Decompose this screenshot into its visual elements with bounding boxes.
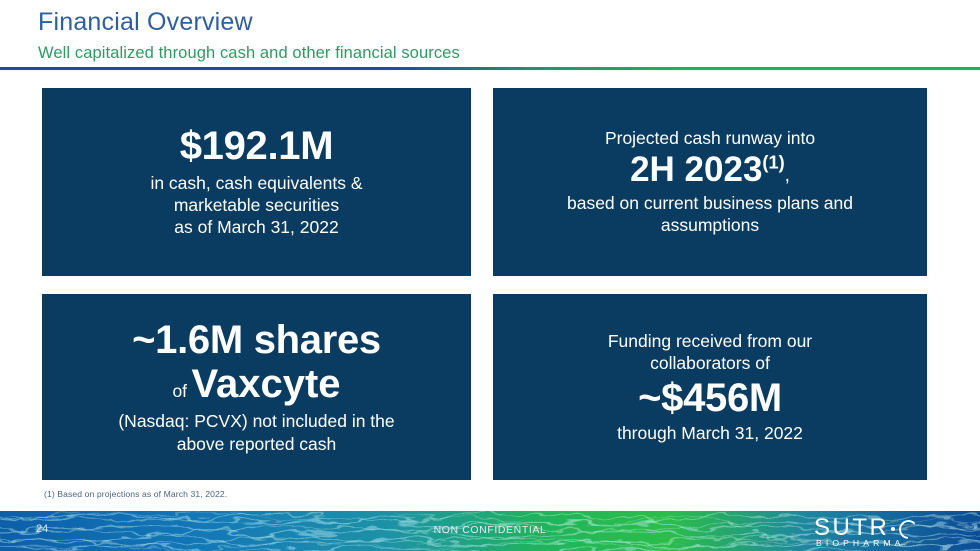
collaborator-funding-lead: Funding received from our collaborators … <box>608 330 812 375</box>
logo-dot-icon <box>891 527 895 531</box>
sutro-biopharma-logo: SUTR BIOPHARMA <box>814 516 964 548</box>
vaxcyte-line-2: above reported cash <box>118 433 394 455</box>
vaxcyte-line-1: (Nasdaq: PCVX) not included in the <box>118 410 394 432</box>
vaxcyte-shares-headline: ~1.6M shares <box>132 319 381 362</box>
cash-runway-line-1: based on current business plans and <box>567 192 853 214</box>
cash-runway-line-2: assumptions <box>567 214 853 236</box>
cash-runway-headline-text: 2H 2023 <box>630 150 762 189</box>
metric-card-vaxcyte-shares: ~1.6M shares of Vaxcyte (Nasdaq: PCVX) n… <box>42 294 471 480</box>
slide-canvas: Financial Overview Well capitalized thro… <box>0 0 980 551</box>
cash-position-headline: $192.1M <box>180 125 334 168</box>
header-divider <box>0 67 980 70</box>
collaborator-funding-lead-1: Funding received from our <box>608 330 812 352</box>
cash-position-line-3: as of March 31, 2022 <box>150 216 362 238</box>
page-subtitle: Well capitalized through cash and other … <box>38 44 460 63</box>
logo-subtitle: BIOPHARMA <box>816 538 904 548</box>
cash-runway-description: based on current business plans and assu… <box>567 192 853 237</box>
vaxcyte-company-line: of Vaxcyte <box>172 363 340 406</box>
vaxcyte-company-name: Vaxcyte <box>192 362 341 406</box>
cash-runway-headline: 2H 2023(1), <box>630 151 790 190</box>
logo-wordmark: SUTR <box>814 516 964 540</box>
collaborator-funding-description: through March 31, 2022 <box>617 422 803 444</box>
slide-footer: 24 NON CONFIDENTIAL SUTR BIOPHARMA <box>0 511 980 551</box>
metric-card-collaborator-funding: Funding received from our collaborators … <box>493 294 927 480</box>
vaxcyte-of-label: of <box>172 381 187 401</box>
collaborator-funding-line-1: through March 31, 2022 <box>617 422 803 444</box>
vaxcyte-description: (Nasdaq: PCVX) not included in the above… <box>118 410 394 455</box>
slide-header: Financial Overview Well capitalized thro… <box>0 0 980 72</box>
collaborator-funding-headline: ~$456M <box>638 377 782 420</box>
cash-runway-headline-suffix: , <box>785 165 790 186</box>
metric-card-cash-runway: Projected cash runway into 2H 2023(1), b… <box>493 88 927 276</box>
footnote-marker: (1) <box>762 152 784 172</box>
logo-wordmark-text: SUTR <box>814 516 889 540</box>
page-title: Financial Overview <box>38 8 253 37</box>
slide-footnote: (1) Based on projections as of March 31,… <box>44 489 227 499</box>
collaborator-funding-lead-2: collaborators of <box>608 352 812 374</box>
cash-runway-lead: Projected cash runway into <box>605 127 815 149</box>
cash-position-line-1: in cash, cash equivalents & <box>150 172 362 194</box>
metric-card-grid: $192.1M in cash, cash equivalents & mark… <box>0 88 980 480</box>
cash-position-description: in cash, cash equivalents & marketable s… <box>150 172 362 239</box>
logo-open-circle-icon <box>899 520 918 539</box>
metric-card-cash-position: $192.1M in cash, cash equivalents & mark… <box>42 88 471 276</box>
cash-position-line-2: marketable securities <box>150 194 362 216</box>
